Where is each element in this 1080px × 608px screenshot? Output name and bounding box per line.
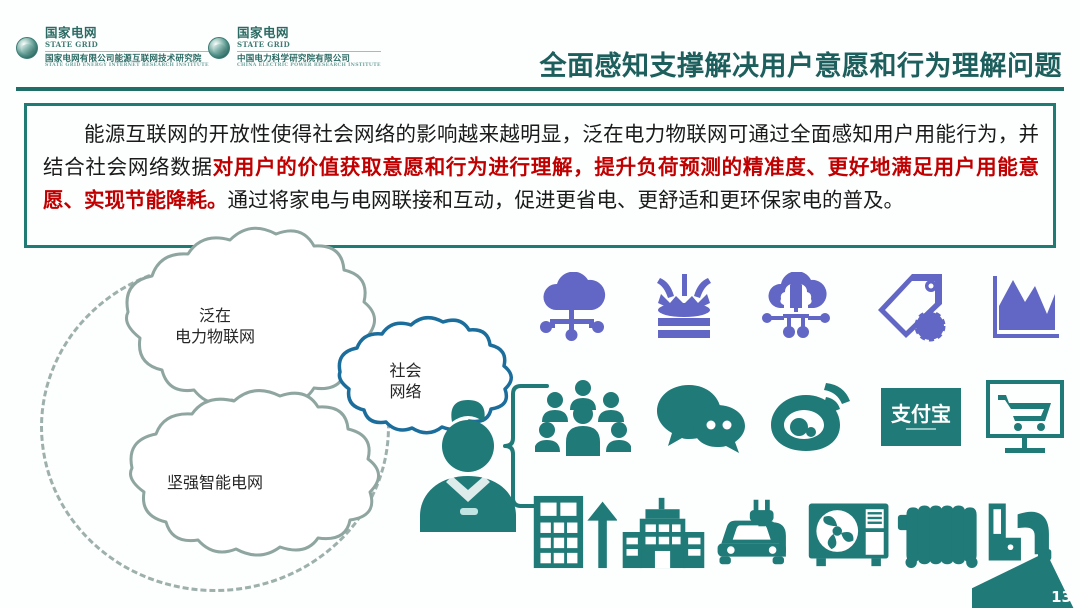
radiator-heater-icon[interactable] (896, 492, 983, 572)
icon-row-social-apps: 支付宝 (535, 378, 1065, 456)
ecommerce-cart-icon[interactable] (985, 380, 1065, 454)
social-label-line2: 网络 (348, 381, 463, 402)
weibo-logo-icon[interactable] (768, 379, 856, 455)
social-label-line1: 社会 (348, 360, 463, 381)
logo-state-grid-eiri: 国家电网 STATE GRID 国家电网有限公司能源互联网技术研究院 STATE… (16, 27, 209, 69)
cloud-label-line1: 泛在 (95, 305, 335, 326)
logo-name-en: STATE GRID (45, 41, 209, 48)
logo-name-cn: 国家电网 (237, 27, 381, 40)
wechat-chat-icon[interactable] (655, 379, 745, 455)
state-grid-emblem-icon (208, 37, 230, 59)
icon-row-sensing (535, 272, 1065, 344)
smart-grid-cloud-label: 坚强智能电网 (95, 472, 335, 493)
social-network-cloud-label: 社会 网络 (348, 360, 463, 402)
residential-building-icon[interactable] (530, 492, 617, 572)
summary-paragraph: 能源互联网的开放性使得社会网络的影响越来越明显，泛在电力物联网可通过全面感知用户… (43, 118, 1039, 217)
cloud-network-icon[interactable] (535, 272, 609, 344)
electric-vehicle-icon[interactable] (710, 492, 805, 572)
logo-institute-cn: 中国电力科学研究院有限公司 (237, 55, 381, 64)
page-title: 全面感知支撑解决用户意愿和行为理解问题 (540, 44, 1063, 83)
logo-divider (237, 51, 381, 52)
diagram-area: 泛在 电力物联网 坚强智能电网 社会 网络 (0, 250, 1080, 608)
state-grid-emblem-icon (16, 37, 38, 59)
up-arrow-icon (587, 502, 617, 568)
alipay-label: 支付宝 (891, 402, 951, 426)
summary-textbox: 能源互联网的开放性使得社会网络的影响越来越明显，泛在电力物联网可通过全面感知用户… (24, 103, 1056, 248)
alipay-logo-icon[interactable]: 支付宝 (880, 387, 962, 447)
logo-name-cn: 国家电网 (45, 27, 209, 40)
ai-brain-cloud-icon[interactable] (758, 272, 834, 344)
logo-divider (45, 51, 209, 52)
page-number-corner: 13 (972, 546, 1080, 608)
social-group-icon[interactable] (535, 378, 631, 456)
summary-segment-3: 通过将家电与电网联接和互动，促进更省电、更舒适和更环保家电的普及。 (228, 188, 905, 212)
slide-header: 国家电网 STATE GRID 国家电网有限公司能源互联网技术研究院 STATE… (0, 0, 1080, 92)
logo-china-epri: 国家电网 STATE GRID 中国电力科学研究院有限公司 CHINA ELEC… (208, 27, 381, 69)
logo-institute-cn: 国家电网有限公司能源互联网技术研究院 (45, 55, 209, 64)
commercial-building-icon[interactable] (617, 492, 710, 572)
page-number: 13 (1051, 588, 1072, 606)
ubiquitous-iot-cloud-label: 泛在 电力物联网 (95, 305, 335, 347)
tag-add-icon[interactable] (872, 272, 950, 344)
cloud-label-line2: 电力物联网 (95, 326, 335, 347)
logo-institute-en: STATE GRID ENERGY INTERNET RESEARCH INST… (45, 64, 209, 69)
air-conditioner-icon[interactable] (805, 492, 896, 572)
logo-institute-en: CHINA ELECTRIC POWER RESEARCH INSTITUTE (237, 64, 381, 69)
area-chart-icon[interactable] (987, 272, 1065, 344)
database-ingest-icon[interactable] (647, 272, 721, 344)
logo-name-en: STATE GRID (237, 41, 381, 48)
header-divider (16, 87, 1064, 91)
